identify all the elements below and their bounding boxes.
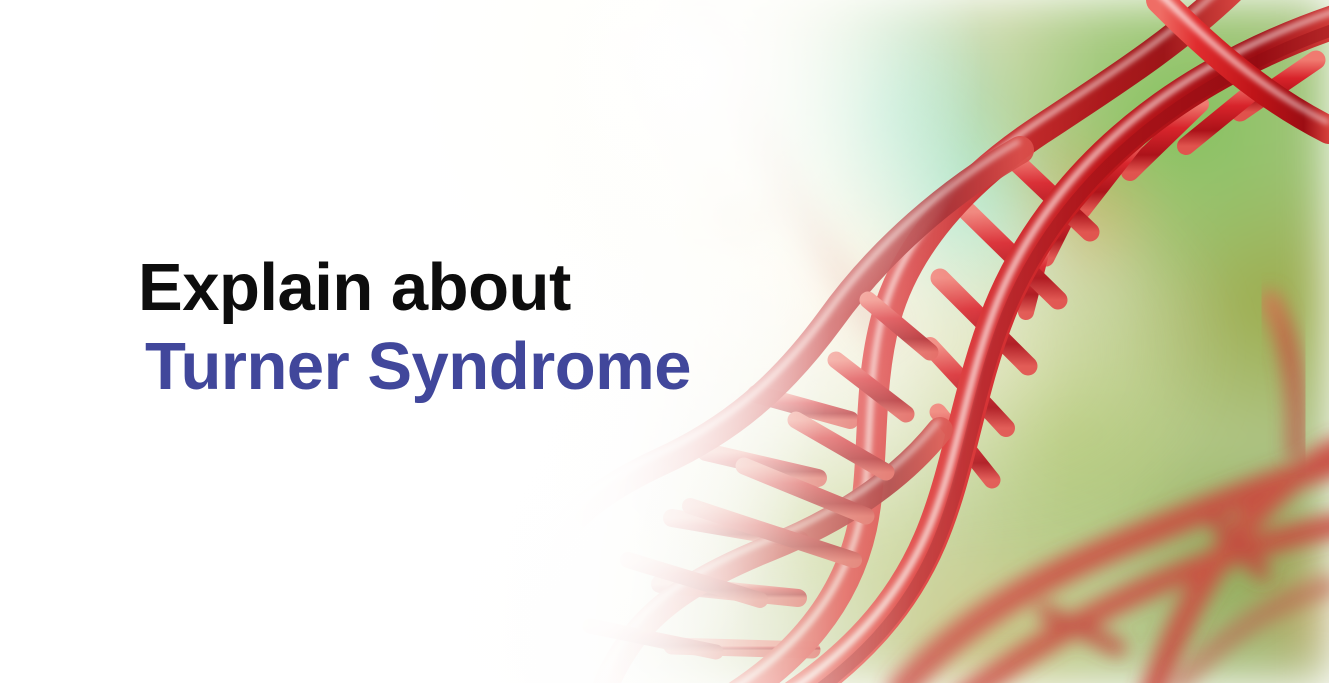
headline-line-1: Explain about: [138, 254, 691, 321]
headline-line-2: Turner Syndrome: [145, 333, 691, 400]
page-title: Explain about Turner Syndrome: [138, 254, 691, 400]
banner: Explain about Turner Syndrome: [0, 0, 1329, 683]
